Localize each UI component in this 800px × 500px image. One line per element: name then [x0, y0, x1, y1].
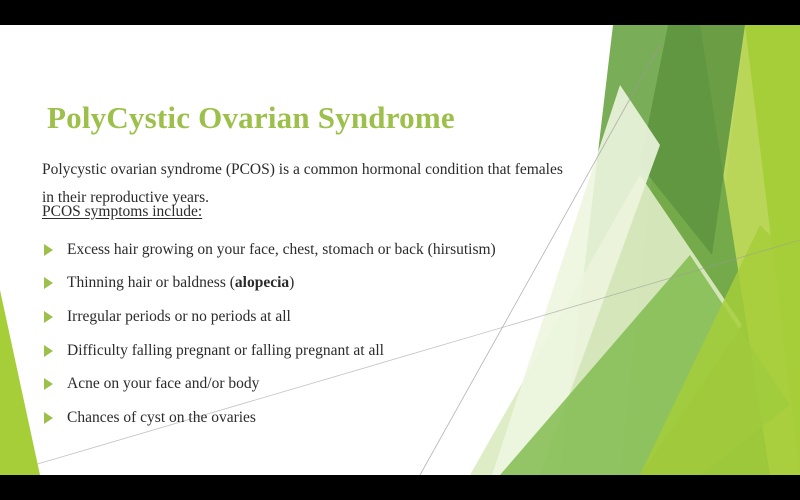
letterbox-bar-bottom	[0, 475, 800, 500]
triangle-bullet-icon	[44, 345, 53, 357]
list-item-label: Thinning hair or baldness (alopecia)	[67, 274, 294, 292]
triangle-bullet-icon	[44, 311, 53, 323]
slide-title: PolyCystic Ovarian Syndrome	[47, 99, 455, 137]
triangle-bullet-icon	[44, 378, 53, 390]
presentation-slide: PolyCystic Ovarian Syndrome Polycystic o…	[0, 0, 800, 500]
list-item: Chances of cyst on the ovaries	[42, 401, 602, 435]
list-item: Irregular periods or no periods at all	[42, 300, 602, 334]
list-item-label: Difficulty falling pregnant or falling p…	[67, 342, 384, 360]
triangle-bullet-icon	[44, 412, 53, 424]
list-item-label: Excess hair growing on your face, chest,…	[67, 241, 496, 259]
list-item: Acne on your face and/or body	[42, 367, 602, 401]
symptoms-bullet-list: Excess hair growing on your face, chest,…	[42, 233, 602, 435]
list-item-label: Acne on your face and/or body	[67, 375, 259, 393]
list-item: Difficulty falling pregnant or falling p…	[42, 334, 602, 368]
letterbox-bar-top	[0, 0, 800, 25]
list-item: Thinning hair or baldness (alopecia)	[42, 267, 602, 301]
list-item-label: Chances of cyst on the ovaries	[67, 409, 256, 427]
list-item-label: Irregular periods or no periods at all	[67, 308, 291, 326]
triangle-bullet-icon	[44, 277, 53, 289]
slide-canvas: PolyCystic Ovarian Syndrome Polycystic o…	[0, 25, 800, 475]
symptoms-heading: PCOS symptoms include:	[42, 201, 202, 223]
list-item: Excess hair growing on your face, chest,…	[42, 233, 602, 267]
triangle-bullet-icon	[44, 244, 53, 256]
slide-content: PolyCystic Ovarian Syndrome Polycystic o…	[0, 25, 800, 475]
